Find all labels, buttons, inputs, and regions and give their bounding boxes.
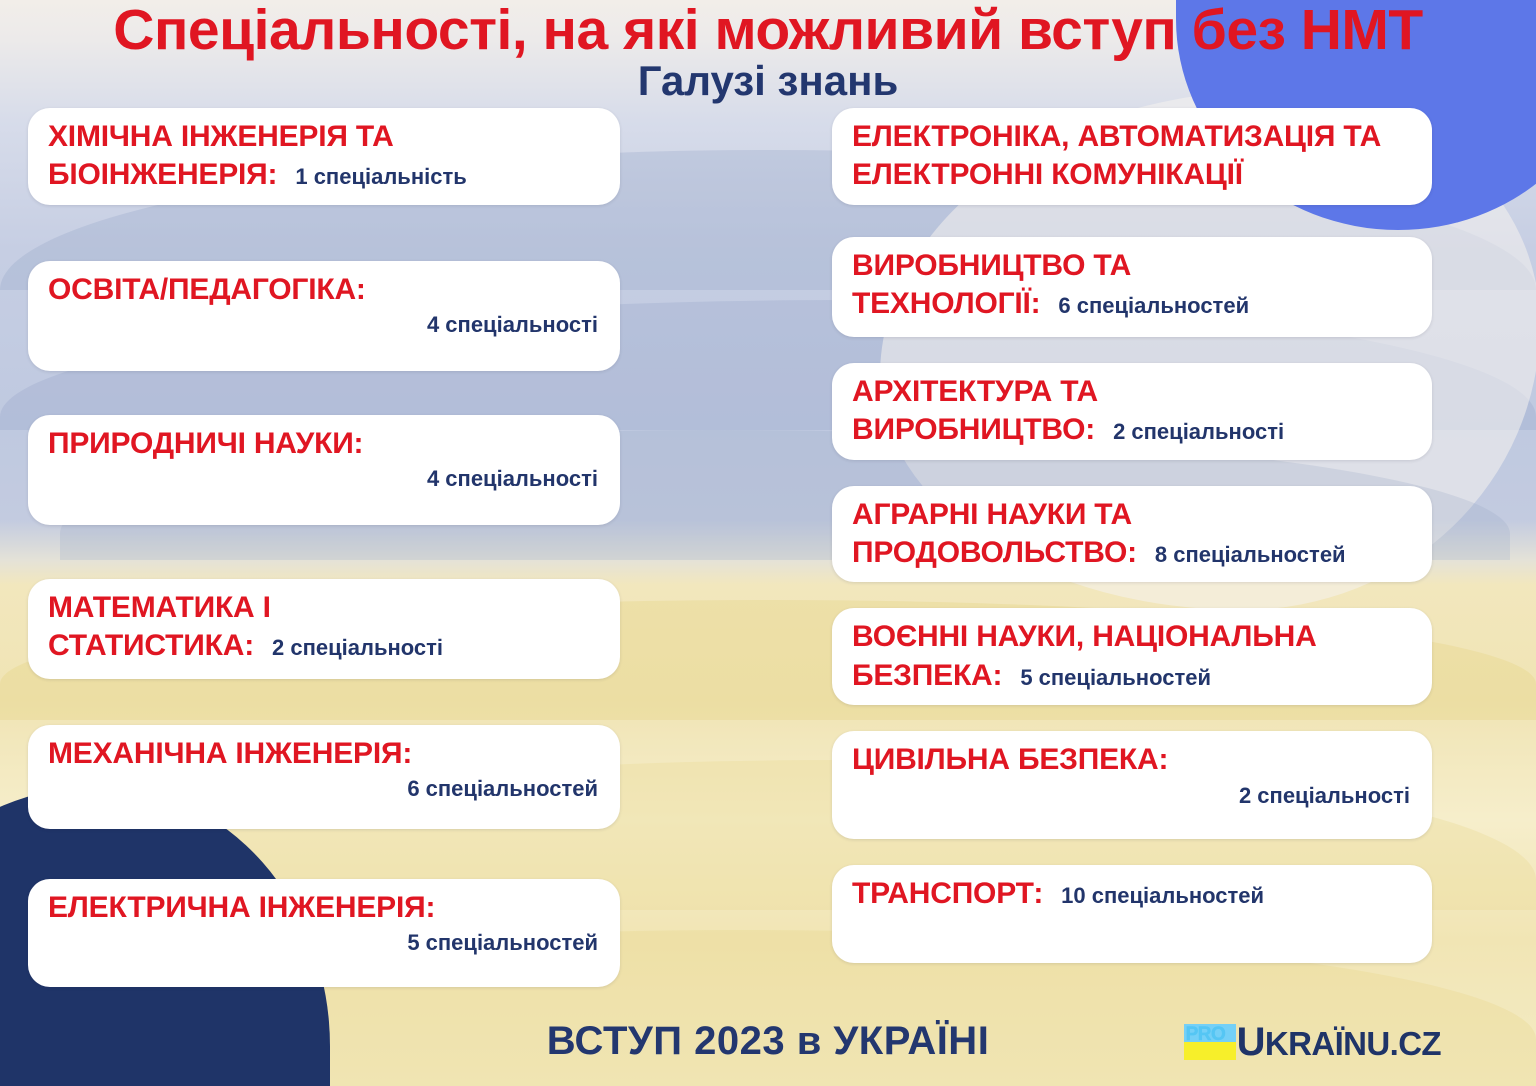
specialty-card-label: МАТЕМАТИКА І СТАТИСТИКА: xyxy=(48,591,271,662)
specialty-card[interactable]: МЕХАНІЧНА ІНЖЕНЕРІЯ:6 спеціальностей xyxy=(28,725,620,829)
right-card-column: ЕЛЕКТРОНІКА, АВТОМАТИЗАЦІЯ ТА ЕЛЕКТРОННІ… xyxy=(832,108,1432,963)
specialty-card-count: 8 спеціальностей xyxy=(1155,542,1346,567)
specialty-card-count: 4 спеціальності xyxy=(48,311,598,339)
specialty-card-count: 2 спеціальності xyxy=(1113,419,1284,444)
logo-pro-text: PRO xyxy=(1186,1025,1226,1044)
infographic-poster: Спеціальності, на які можливий вступ без… xyxy=(0,0,1536,1086)
specialty-card-count: 10 спеціальностей xyxy=(1061,883,1264,908)
specialty-card-count: 2 спеціальності xyxy=(852,782,1410,810)
specialty-card-count: 6 спеціальностей xyxy=(1058,293,1249,318)
specialty-card[interactable]: АРХІТЕКТУРА ТА ВИРОБНИЦТВО:2 спеціальнос… xyxy=(832,363,1432,460)
specialty-card-count: 5 спеціальностей xyxy=(48,929,598,957)
specialty-card-count: 1 спеціальність xyxy=(295,164,466,189)
logo-word-rest: KRAÏNU.CZ xyxy=(1265,1025,1441,1062)
specialty-card[interactable]: ТРАНСПОРТ:10 спеціальностей xyxy=(832,865,1432,963)
specialty-card[interactable]: АГРАРНІ НАУКИ ТА ПРОДОВОЛЬСТВО:8 спеціал… xyxy=(832,486,1432,583)
specialty-card[interactable]: ПРИРОДНИЧІ НАУКИ:4 спеціальності xyxy=(28,415,620,525)
left-card-column: ХІМІЧНА ІНЖЕНЕРІЯ ТА БІОІНЖЕНЕРІЯ:1 спец… xyxy=(28,108,620,987)
specialty-card[interactable]: ЦИВІЛЬНА БЕЗПЕКА:2 спеціальності xyxy=(832,731,1432,839)
specialty-card-label: ОСВІТА/ПЕДАГОГІКА: xyxy=(48,273,366,306)
specialty-card[interactable]: ЕЛЕКТРИЧНА ІНЖЕНЕРІЯ:5 спеціальностей xyxy=(28,879,620,987)
specialty-card-label: ЦИВІЛЬНА БЕЗПЕКА: xyxy=(852,743,1168,776)
specialty-card-count: 4 спеціальності xyxy=(48,465,598,493)
page-title: Спеціальності, на які можливий вступ без… xyxy=(0,2,1536,59)
page-subtitle: Галузі знань xyxy=(0,60,1536,102)
logo-wordmark: UKRAÏNU.CZ xyxy=(1237,1022,1441,1062)
specialty-card-label: АРХІТЕКТУРА ТА ВИРОБНИЦТВО: xyxy=(852,375,1098,446)
specialty-card-label: МЕХАНІЧНА ІНЖЕНЕРІЯ: xyxy=(48,737,412,770)
specialty-card-label: ПРИРОДНИЧІ НАУКИ: xyxy=(48,427,363,460)
specialty-card-label: АГРАРНІ НАУКИ ТА ПРОДОВОЛЬСТВО: xyxy=(852,498,1137,569)
logo-flag-icon: PRO xyxy=(1184,1024,1236,1060)
logo-word-cap: U xyxy=(1237,1020,1265,1064)
specialty-card-label: ЕЛЕКТРИЧНА ІНЖЕНЕРІЯ: xyxy=(48,891,435,924)
specialty-card[interactable]: ОСВІТА/ПЕДАГОГІКА:4 спеціальності xyxy=(28,261,620,371)
specialty-card[interactable]: ХІМІЧНА ІНЖЕНЕРІЯ ТА БІОІНЖЕНЕРІЯ:1 спец… xyxy=(28,108,620,205)
prouktrainu-logo[interactable]: PRO UKRAÏNU.CZ xyxy=(1184,1022,1441,1062)
specialty-card[interactable]: МАТЕМАТИКА І СТАТИСТИКА:2 спеціальності xyxy=(28,579,620,679)
specialty-card-count: 5 спеціальностей xyxy=(1020,665,1211,690)
specialty-card[interactable]: ЕЛЕКТРОНІКА, АВТОМАТИЗАЦІЯ ТА ЕЛЕКТРОННІ… xyxy=(832,108,1432,205)
specialty-card-label: ТРАНСПОРТ: xyxy=(852,877,1043,910)
specialty-card[interactable]: ВИРОБНИЦТВО ТА ТЕХНОЛОГІЇ:6 спеціальност… xyxy=(832,237,1432,337)
specialty-card[interactable]: ВОЄННІ НАУКИ, НАЦІОНАЛЬНА БЕЗПЕКА:5 спец… xyxy=(832,608,1432,705)
specialty-card-label: ЕЛЕКТРОНІКА, АВТОМАТИЗАЦІЯ ТА ЕЛЕКТРОННІ… xyxy=(852,120,1381,191)
specialty-card-count: 2 спеціальності xyxy=(272,635,443,660)
specialty-card-count: 6 спеціальностей xyxy=(48,775,598,803)
